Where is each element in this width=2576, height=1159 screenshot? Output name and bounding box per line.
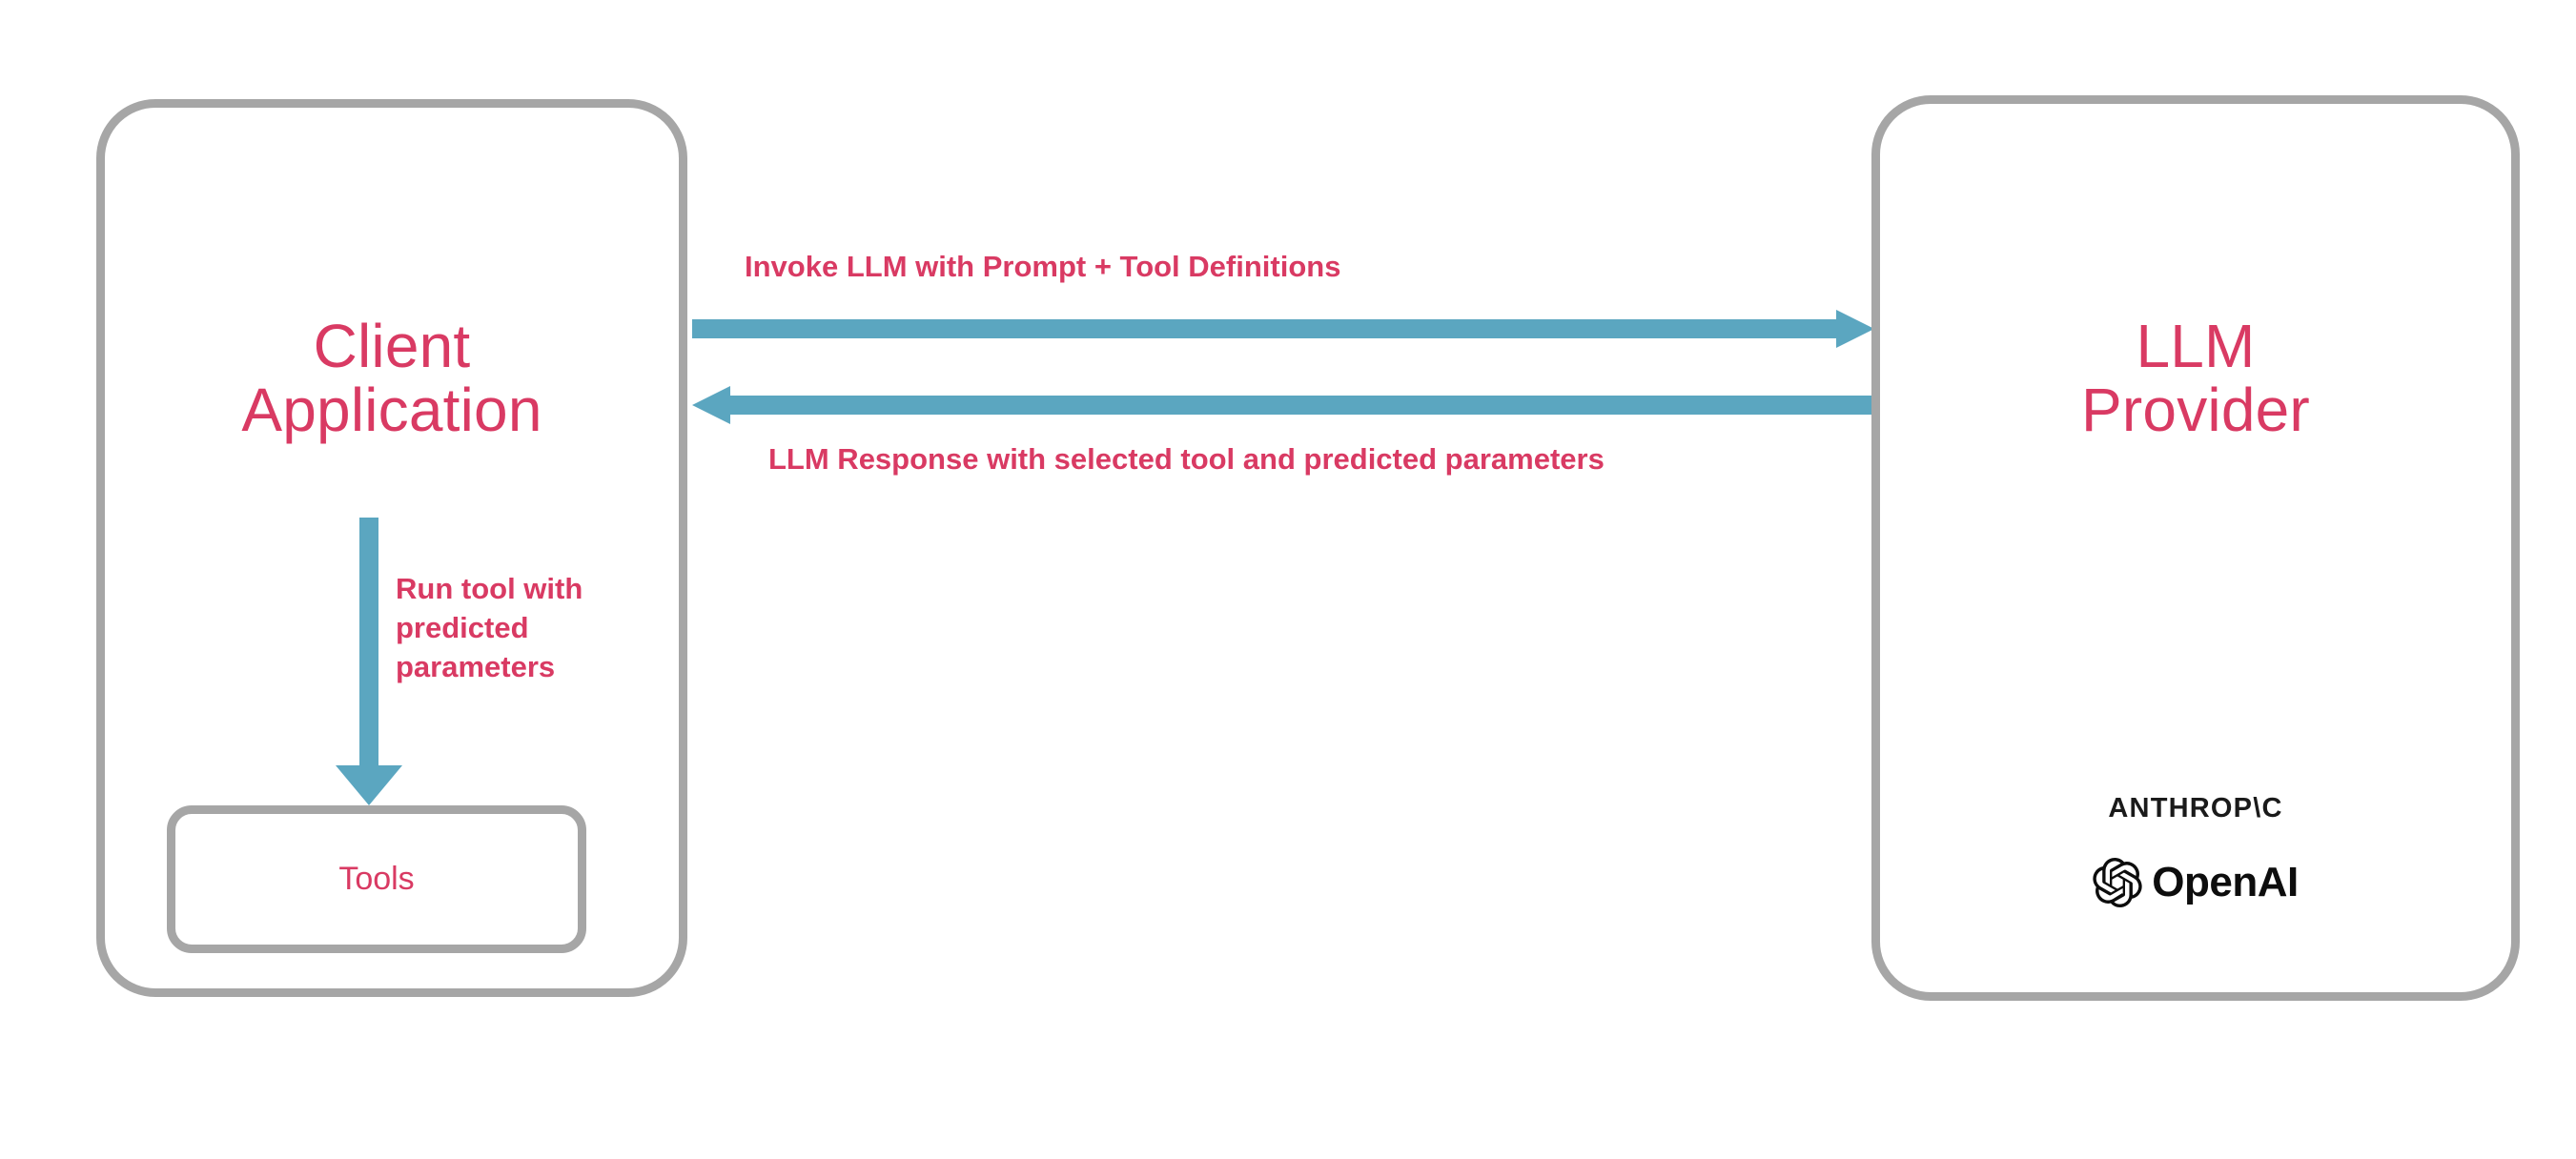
provider-title-line-2: Provider (1871, 378, 2520, 442)
llm-response-arrow-head-icon (692, 386, 730, 424)
client-application-title: Client Application (96, 315, 687, 442)
llm-provider-title: LLM Provider (1871, 315, 2520, 442)
run-tool-arrow-label: Run tool with predicted parameters (396, 570, 663, 687)
provider-title-line-1: LLM (1871, 315, 2520, 378)
openai-knot-icon (2093, 858, 2142, 907)
openai-logo: OpenAI (1871, 858, 2520, 907)
llm-response-arrow (692, 386, 1874, 424)
tools-node: Tools (167, 805, 586, 953)
invoke-llm-arrow-shaft (692, 319, 1838, 338)
tools-label: Tools (338, 861, 414, 898)
client-title-line-1: Client (96, 315, 687, 378)
run-tool-arrow-shaft (359, 518, 378, 765)
openai-wordmark: OpenAI (2152, 859, 2298, 906)
anthropic-logo: ANTHROP\C (1871, 793, 2520, 824)
llm-response-arrow-shaft (728, 396, 1874, 415)
invoke-llm-arrow-head-icon (1836, 310, 1874, 348)
run-tool-arrow (336, 518, 402, 805)
llm-response-arrow-label: LLM Response with selected tool and pred… (768, 442, 1605, 477)
invoke-llm-arrow (692, 310, 1874, 348)
run-tool-arrow-head-icon (336, 765, 402, 805)
diagram-canvas: Client Application Tools Run tool with p… (0, 0, 2576, 1159)
client-title-line-2: Application (96, 378, 687, 442)
invoke-llm-arrow-label: Invoke LLM with Prompt + Tool Definition… (745, 250, 1340, 284)
